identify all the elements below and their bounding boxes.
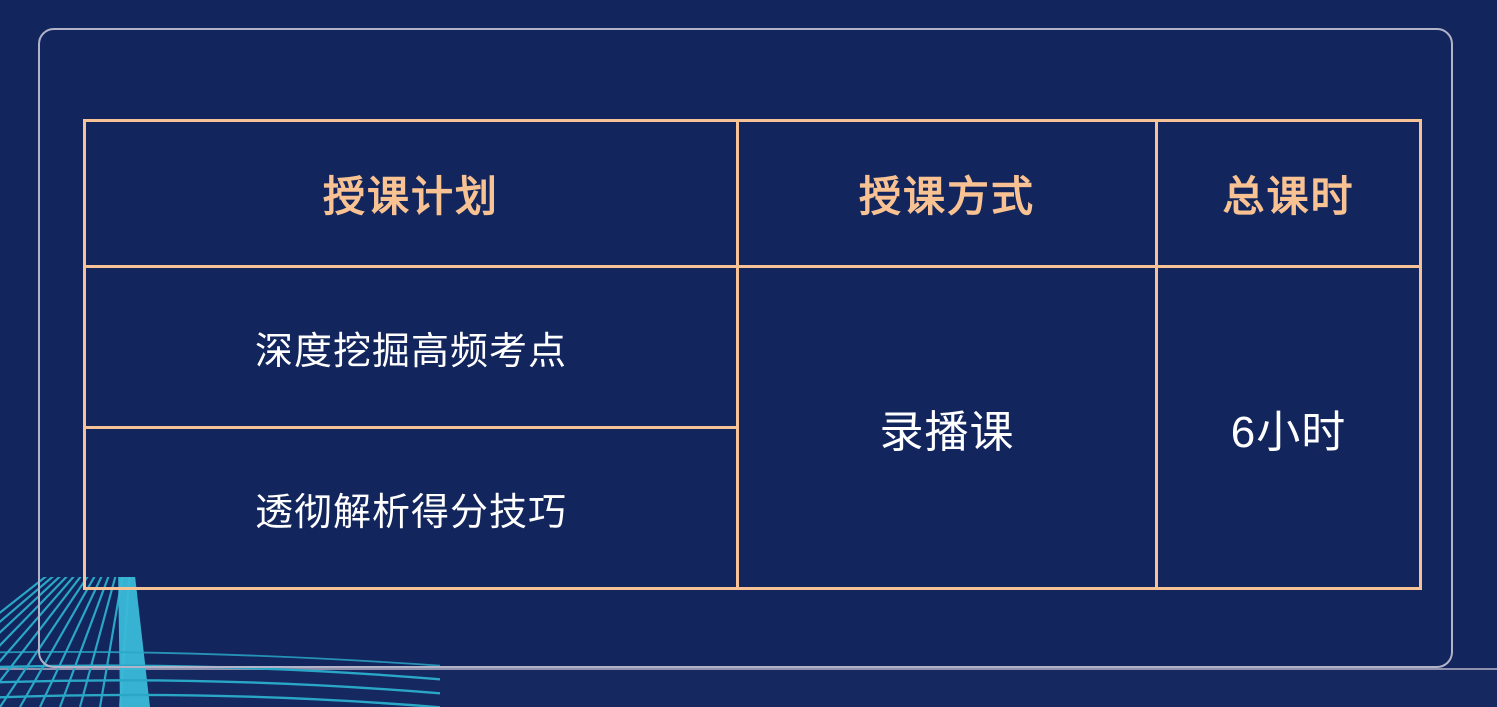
- teaching-plan-table-container: 授课计划 授课方式 总课时 深度挖掘高频考点 录播课 6小时 透彻解析得分技巧: [83, 119, 1410, 578]
- table-header-row: 授课计划 授课方式 总课时: [85, 121, 1421, 267]
- table-header-plan: 授课计划: [85, 121, 738, 267]
- table-row: 深度挖掘高频考点 录播课 6小时: [85, 267, 1421, 428]
- plan-item-2: 透彻解析得分技巧: [85, 428, 738, 589]
- bottom-band: [0, 668, 1497, 707]
- teaching-plan-table: 授课计划 授课方式 总课时 深度挖掘高频考点 录播课 6小时 透彻解析得分技巧: [83, 119, 1422, 590]
- total-hours-value: 6小时: [1157, 267, 1421, 589]
- method-value: 录播课: [738, 267, 1157, 589]
- plan-item-1: 深度挖掘高频考点: [85, 267, 738, 428]
- table-header-method: 授课方式: [738, 121, 1157, 267]
- slide-canvas: 授课计划 授课方式 总课时 深度挖掘高频考点 录播课 6小时 透彻解析得分技巧: [0, 0, 1497, 707]
- table-header-total-hours: 总课时: [1157, 121, 1421, 267]
